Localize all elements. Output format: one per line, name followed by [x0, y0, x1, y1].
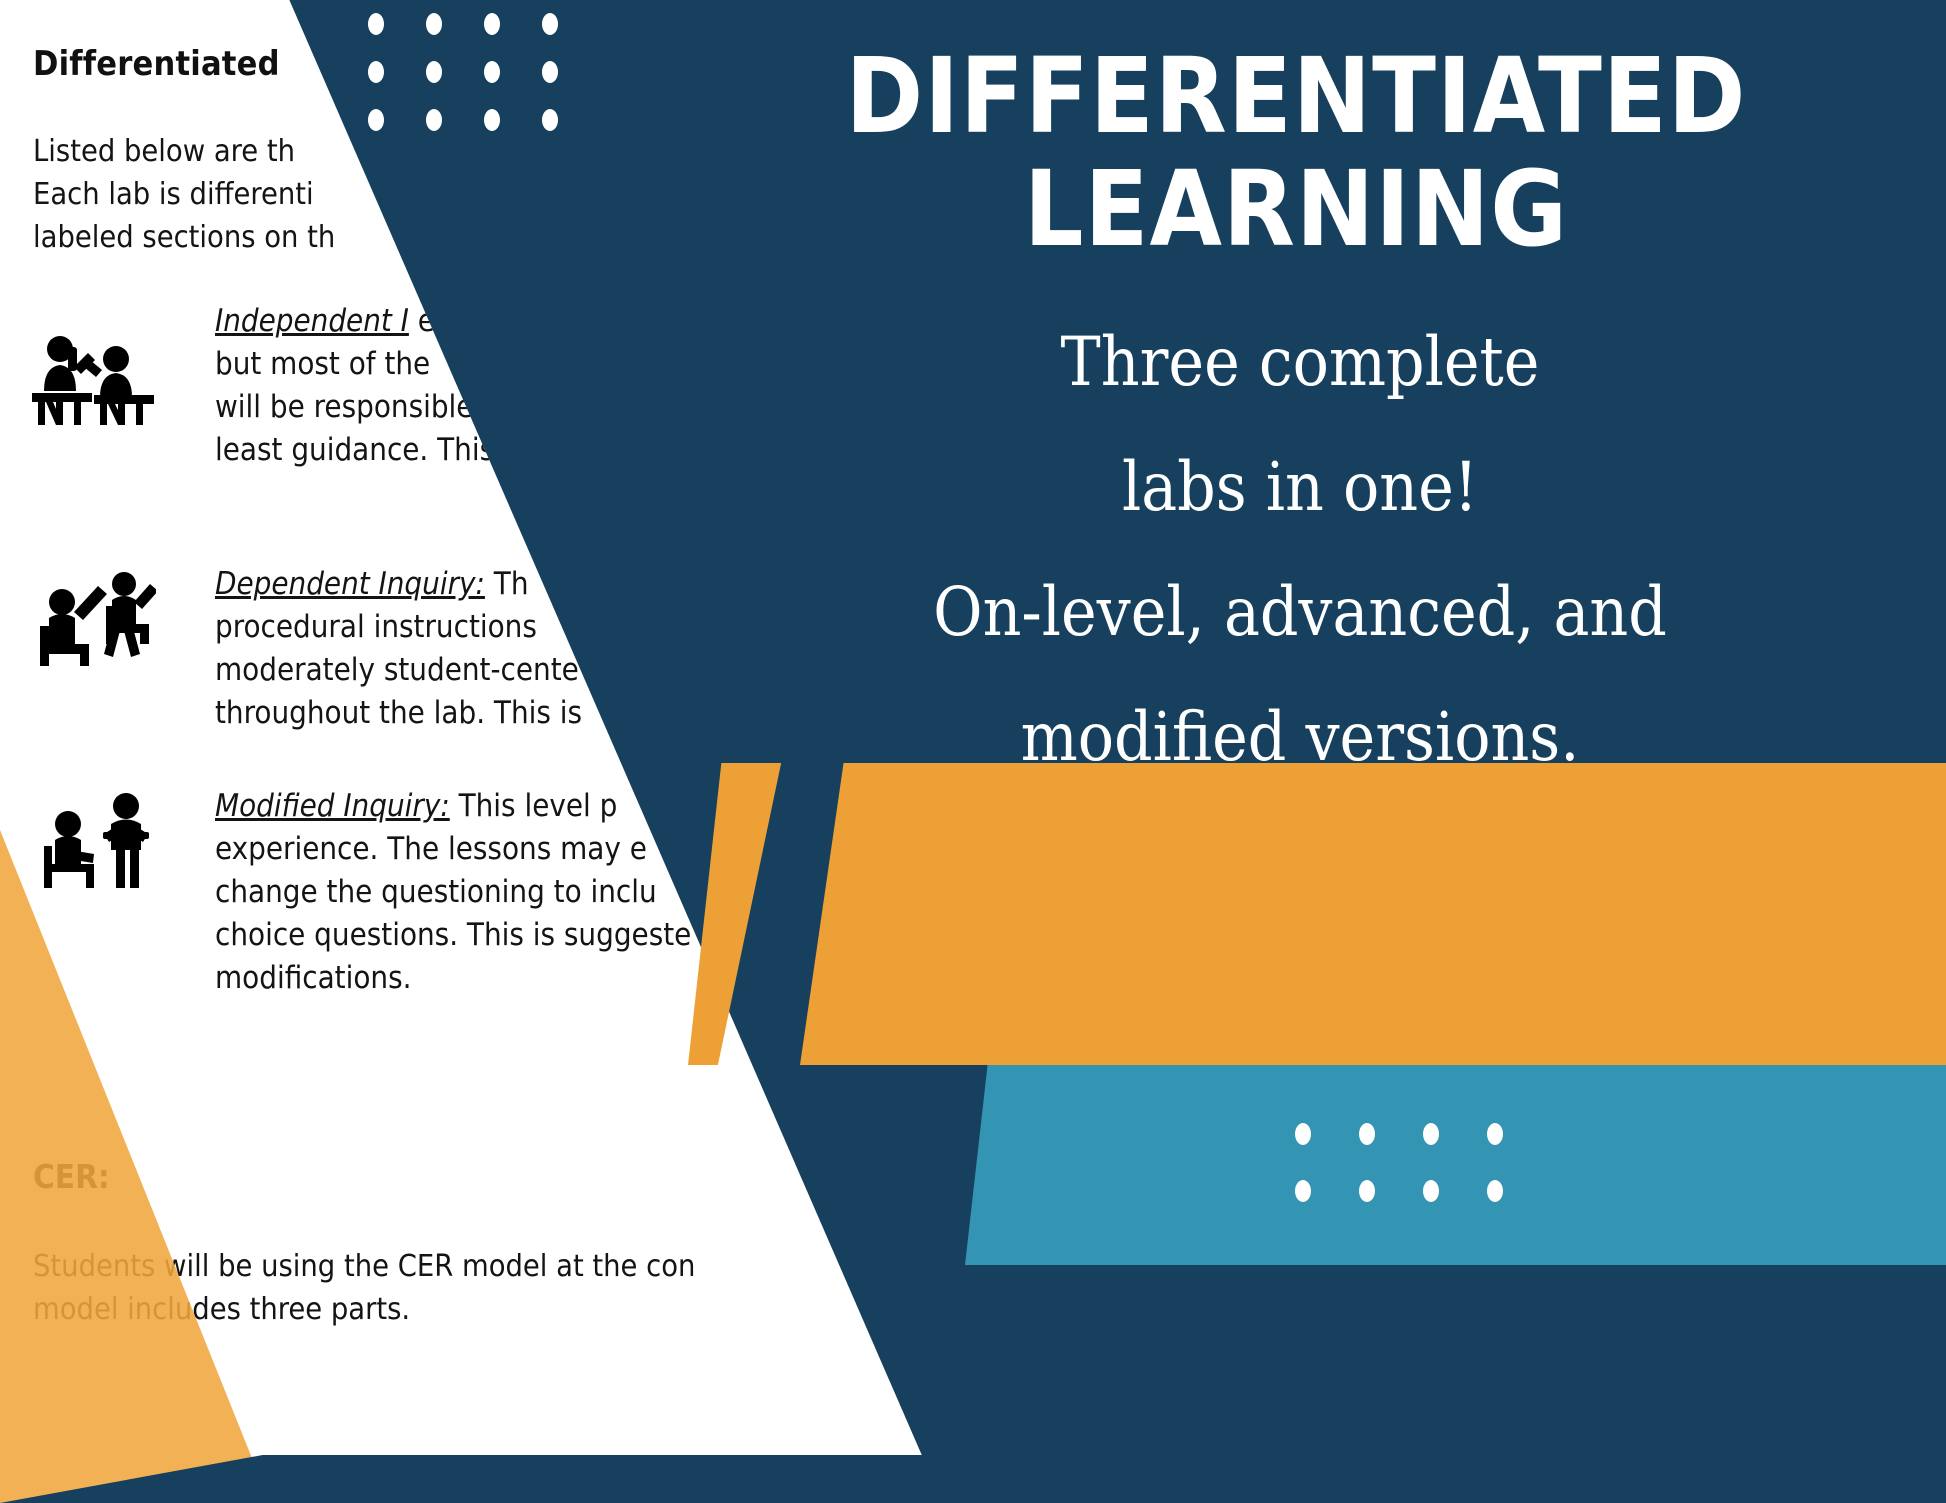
headline-line-1: DIFFERENTIATED — [666, 40, 1926, 153]
poster-headline: DIFFERENTIATED LEARNING — [666, 40, 1926, 266]
dot-icon — [1359, 1123, 1375, 1145]
subtitle-line-2: labs in one! — [680, 425, 1920, 550]
level-dependent-label: Dependent Inquiry: — [215, 566, 485, 602]
dot-icon — [1423, 1180, 1439, 1202]
subtitle-line-1: Three complete — [680, 300, 1920, 425]
dot-icon — [1487, 1180, 1503, 1202]
dot-icon — [484, 109, 500, 131]
dot-icon — [426, 61, 442, 83]
navy-bottom-strip — [0, 1455, 1946, 1503]
dot-icon — [542, 13, 558, 35]
teacher-helping-student-icon — [40, 790, 164, 893]
dot-icon — [368, 13, 384, 35]
dot-icon — [368, 109, 384, 131]
students-at-desks-icon — [30, 333, 158, 430]
document-heading: Differentiated — [33, 44, 280, 84]
subtitle-line-3: On-level, advanced, and — [680, 550, 1920, 675]
dot-icon — [1487, 1123, 1503, 1145]
student-raising-hand-icon — [36, 566, 156, 671]
dot-grid-icon-top — [368, 0, 600, 144]
dot-icon — [426, 109, 442, 131]
headline-line-2: LEARNING — [666, 153, 1926, 266]
poster-subtitle: Three complete labs in one! On-level, ad… — [680, 300, 1920, 800]
dot-grid-icon-bottom — [1295, 1105, 1551, 1219]
dot-icon — [484, 13, 500, 35]
level-independent-label: Independent I — [215, 303, 409, 339]
subtitle-line-4: modified versions. — [680, 675, 1920, 800]
dot-icon — [1295, 1123, 1311, 1145]
dot-icon — [542, 61, 558, 83]
poster-canvas: Differentiated Listed below are th Each … — [0, 0, 1946, 1503]
level-modified-label: Modified Inquiry: — [215, 788, 450, 824]
dot-icon — [1423, 1123, 1439, 1145]
dot-icon — [484, 61, 500, 83]
dot-icon — [1359, 1180, 1375, 1202]
dot-icon — [426, 13, 442, 35]
dot-icon — [542, 109, 558, 131]
orange-band — [800, 763, 1946, 1065]
dot-icon — [1295, 1180, 1311, 1202]
dot-icon — [368, 61, 384, 83]
